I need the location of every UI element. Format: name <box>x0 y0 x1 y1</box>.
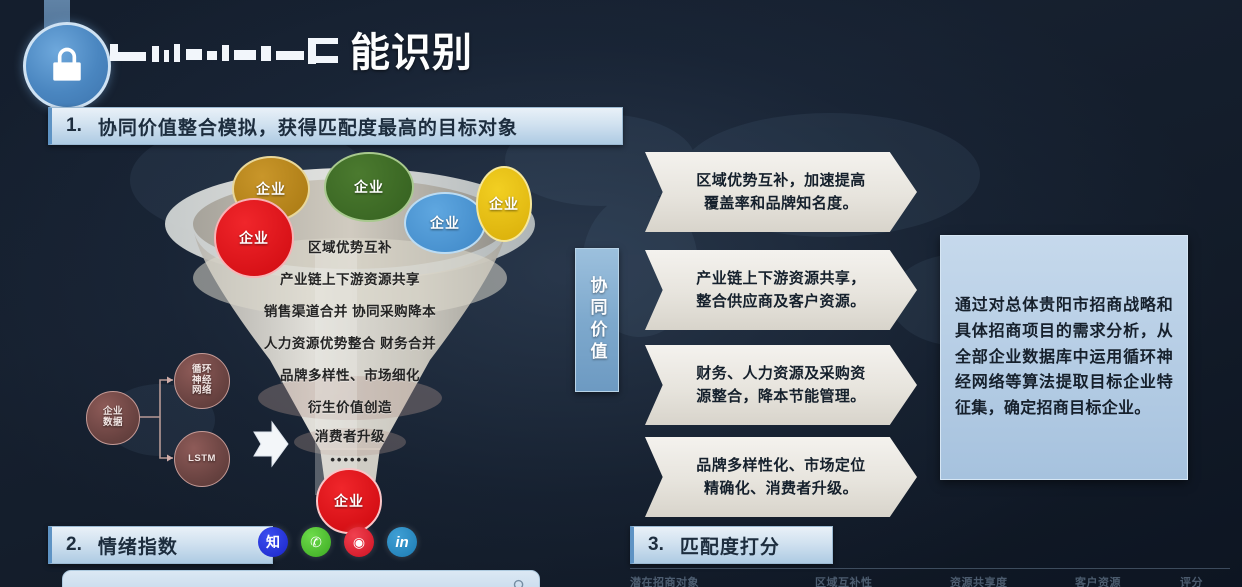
page-title: 能识别 <box>108 24 473 82</box>
callout-4-line-1: 品牌多样性化、市场定位 <box>696 454 865 477</box>
table-header-row: 潜在招商对象 区域互补性 资源共享度 客户资源 评分 <box>630 574 1230 587</box>
section-2-number: 2. <box>66 534 82 556</box>
network-node-lstm[interactable]: LSTM <box>174 431 230 487</box>
enterprise-bubble-2[interactable]: 企业 <box>324 152 414 222</box>
wechat-icon-glyph: ✆ <box>310 534 322 551</box>
weibo-icon-glyph: ◉ <box>353 534 365 551</box>
wechat-icon[interactable]: ✆ <box>301 527 331 557</box>
section-header-2[interactable]: 2. 情绪指数 <box>48 526 273 564</box>
section-header-3[interactable]: 3. 匹配度打分 <box>630 526 833 564</box>
network-node-rnn-line1: 循环 <box>192 365 212 376</box>
info-panel-text: 通过对总体贵阳市招商战略和具体招商项目的需求分析，从全部企业数据库中运用循环神经… <box>955 293 1173 423</box>
title-glitch-fragments <box>108 30 348 76</box>
section-1-label: 协同价值整合模拟，获得匹配度最高的目标对象 <box>98 113 518 140</box>
enterprise-bubble-1-label: 企业 <box>256 179 286 199</box>
collaborative-value-label: 协同价值 <box>575 248 619 392</box>
funnel-line-2: 产业链上下游资源共享 <box>120 268 580 288</box>
slide-canvas: 能识别 1. 协同价值整合模拟，获得匹配度最高的目标对象 <box>0 0 1242 587</box>
zhihu-icon-glyph: 知 <box>266 532 280 552</box>
section-header-1[interactable]: 1. 协同价值整合模拟，获得匹配度最高的目标对象 <box>48 107 623 145</box>
flow-arrow-icon <box>250 418 290 470</box>
social-icon-row: 知 ✆ ◉ in <box>258 527 417 557</box>
neural-network-diagram: 企业 数据 循环 神经 网络 LSTM <box>78 345 238 490</box>
table-header-1: 区域互补性 <box>815 574 950 587</box>
weibo-icon[interactable]: ◉ <box>344 527 374 557</box>
enterprise-bubble-4[interactable]: 企业 <box>476 166 532 242</box>
table-header-4: 评分 <box>1180 574 1230 587</box>
network-node-lstm-label: LSTM <box>188 454 216 465</box>
section-3-number: 3. <box>648 534 664 556</box>
collaborative-value-text: 协同价值 <box>585 276 610 364</box>
section-2-label: 情绪指数 <box>98 532 178 559</box>
funnel-line-1: 区域优势互补 <box>120 236 580 256</box>
callout-4-line-2: 精确化、消费者升级。 <box>704 477 858 500</box>
table-header-2: 资源共享度 <box>950 574 1075 587</box>
zhihu-icon[interactable]: 知 <box>258 527 288 557</box>
magnifier-icon[interactable] <box>512 578 527 587</box>
table-header-3: 客户资源 <box>1075 574 1180 587</box>
linkedin-icon-glyph: in <box>395 534 408 551</box>
enterprise-bubble-4-label-top: 企业 <box>489 197 519 211</box>
callout-2-line-1: 产业链上下游资源共享， <box>696 267 865 290</box>
page-title-text: 能识别 <box>350 33 473 73</box>
callout-3[interactable]: 财务、人力资源及采购资 源整合，降本节能管理。 <box>645 345 917 425</box>
funnel-output-label: 企业 <box>334 491 364 511</box>
network-node-source-line2: 数据 <box>103 418 123 429</box>
search-input[interactable] <box>62 570 540 587</box>
info-panel: 通过对总体贵阳市招商战略和具体招商项目的需求分析，从全部企业数据库中运用循环神经… <box>940 235 1188 480</box>
callout-3-line-1: 财务、人力资源及采购资 <box>696 362 865 385</box>
section-1-number: 1. <box>66 115 82 137</box>
lock-icon <box>23 22 111 110</box>
network-node-rnn-line3: 网络 <box>192 386 212 397</box>
enterprise-bubble-3-label: 企业 <box>430 213 460 233</box>
enterprise-bubble-2-label: 企业 <box>354 177 384 197</box>
linkedin-icon[interactable]: in <box>387 527 417 557</box>
callout-4[interactable]: 品牌多样性化、市场定位 精确化、消费者升级。 <box>645 437 917 517</box>
table-top-rule <box>630 568 1230 569</box>
callout-1-line-1: 区域优势互补，加速提高 <box>696 169 865 192</box>
callout-3-line-2: 源整合，降本节能管理。 <box>696 385 865 408</box>
match-score-table: 潜在招商对象 区域互补性 资源共享度 客户资源 评分 <box>630 568 1230 587</box>
section-3-label: 匹配度打分 <box>680 532 780 559</box>
callout-1-line-2: 覆盖率和品牌知名度。 <box>704 192 858 215</box>
callout-2[interactable]: 产业链上下游资源共享， 整合供应商及客户资源。 <box>645 250 917 330</box>
callout-2-line-2: 整合供应商及客户资源。 <box>696 290 865 313</box>
table-header-0: 潜在招商对象 <box>630 574 815 587</box>
network-node-rnn[interactable]: 循环 神经 网络 <box>174 353 230 409</box>
funnel-line-3: 销售渠道合并 协同采购降本 <box>120 300 580 320</box>
network-node-source[interactable]: 企业 数据 <box>86 391 140 445</box>
callout-1[interactable]: 区域优势互补，加速提高 覆盖率和品牌知名度。 <box>645 152 917 232</box>
funnel-output-bubble[interactable]: 企业 <box>316 468 382 534</box>
